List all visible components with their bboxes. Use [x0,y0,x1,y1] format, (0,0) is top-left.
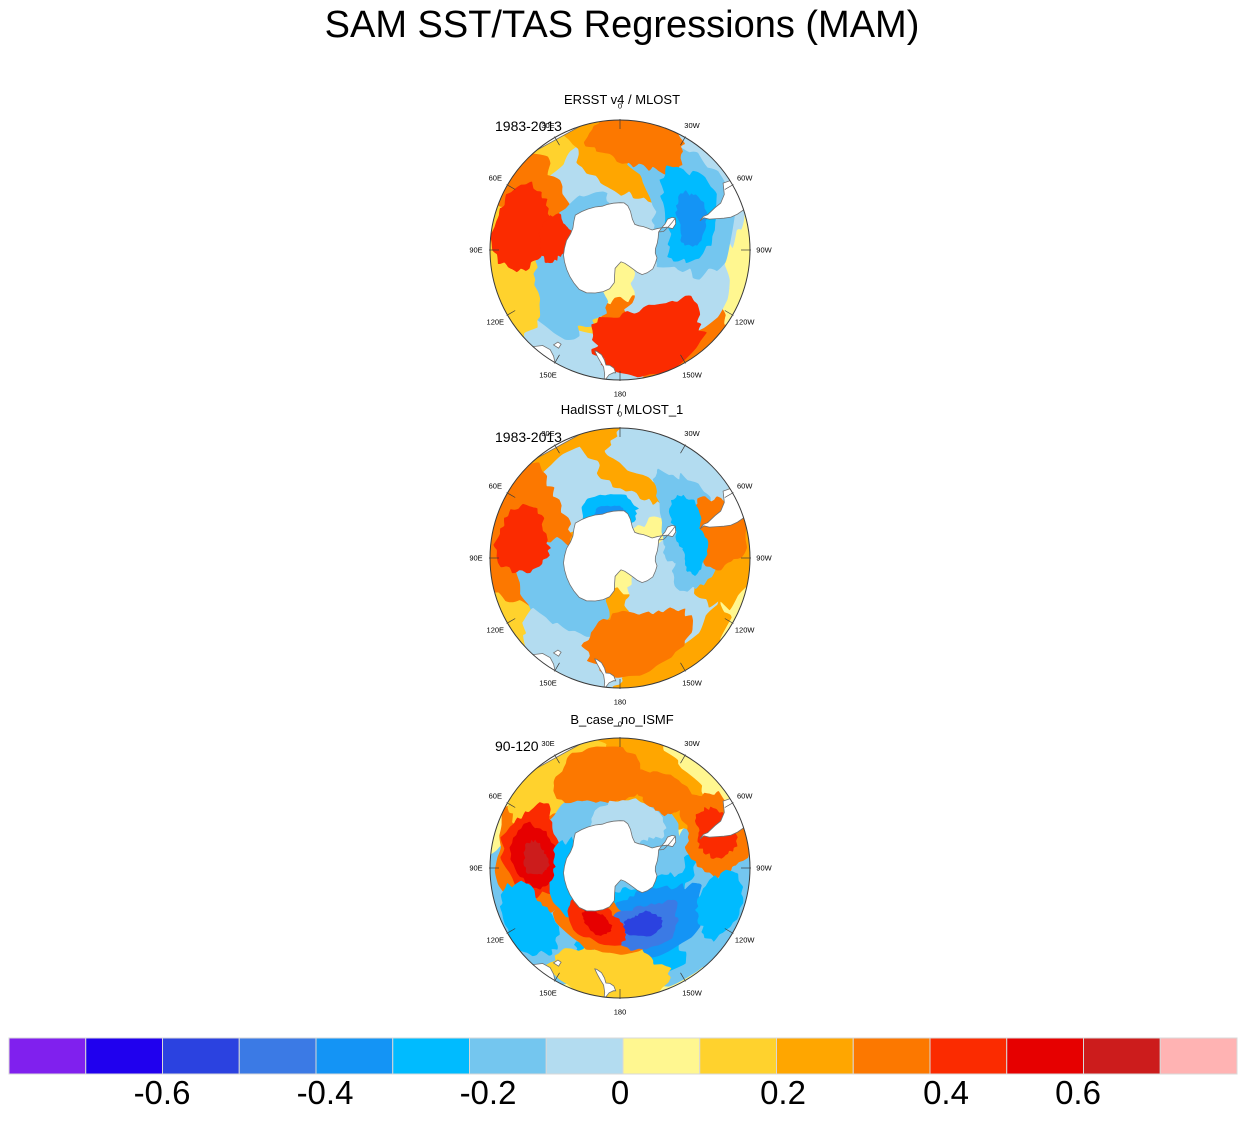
coastline-madagascar [486,432,515,450]
colorbar-cell-11[interactable] [853,1038,930,1074]
colorbar-cell-2[interactable] [163,1038,240,1074]
colorbar-cell-5[interactable] [393,1038,470,1074]
longitude-label: 60W [737,482,753,491]
longitude-label: 30W [684,739,700,748]
colorbar-cell-12[interactable] [930,1038,1007,1074]
longitude-label: 120E [487,626,505,635]
longitude-label: 30E [541,739,554,748]
colorbar-cell-1[interactable] [86,1038,163,1074]
longitude-label: 120W [735,936,756,945]
longitude-label: 150E [539,988,557,997]
longitude-label: 0 [618,410,622,419]
colorbar-tick-label: -0.4 [297,1074,354,1112]
longitude-label: 180 [614,1008,627,1017]
colorbar-tick-label: 0.6 [1055,1074,1101,1112]
colorbar-cell-0[interactable] [9,1038,86,1074]
longitude-label: 0 [618,102,622,111]
colorbar-cell-8[interactable] [623,1038,700,1074]
colorbar-cell-4[interactable] [316,1038,393,1074]
coastline-madagascar [486,124,515,142]
longitude-label: 0 [618,720,622,729]
colorbar-cell-13[interactable] [1007,1038,1084,1074]
longitude-label: 90E [469,864,482,873]
colorbar-cell-7[interactable] [546,1038,623,1074]
longitude-label: 30W [684,121,700,130]
colorbar-cell-15[interactable] [1160,1038,1237,1074]
longitude-label: 90E [469,554,482,563]
longitude-label: 60E [489,792,502,801]
longitude-label: 30E [541,429,554,438]
longitude-label: 150W [682,678,703,687]
longitude-label: 90E [469,246,482,255]
longitude-label: 120W [735,318,756,327]
colorbar-tick-label: 0.4 [923,1074,969,1112]
longitude-label: 120E [487,936,505,945]
map-data-layer-3 [473,731,756,1015]
longitude-label: 120W [735,626,756,635]
colorbar[interactable] [8,1037,1238,1075]
longitude-label: 60W [737,792,753,801]
longitude-label: 90W [756,864,772,873]
coastline-madagascar [486,742,515,760]
map-data-layer-2 [473,421,757,705]
longitude-label: 60W [737,174,753,183]
polar-map-3: 030E60E90E120E150E180150W120W90W60W30W [456,704,784,1032]
longitude-label: 30W [684,429,700,438]
longitude-label: 150W [682,988,703,997]
map-data-layer-1 [473,113,754,397]
colorbar-tick-label: -0.6 [134,1074,191,1112]
colorbar-cell-3[interactable] [239,1038,316,1074]
longitude-label: 60E [489,482,502,491]
colorbar-cell-6[interactable] [470,1038,547,1074]
colorbar-tick-label: 0.2 [760,1074,806,1112]
longitude-label: 60E [489,174,502,183]
longitude-label: 150W [682,370,703,379]
polar-map-1: 030E60E90E120E150E180150W120W90W60W30W [456,86,784,414]
figure-title: SAM SST/TAS Regressions (MAM) [0,4,1244,47]
colorbar-cell-9[interactable] [700,1038,777,1074]
colorbar-tick-label: -0.2 [460,1074,517,1112]
figure-canvas: SAM SST/TAS Regressions (MAM) ERSST v4 /… [0,0,1244,1116]
colorbar-tick-labels: -0.6-0.4-0.200.20.40.6 [0,1074,1244,1130]
colorbar-tick-label: 0 [611,1074,629,1112]
longitude-label: 150E [539,678,557,687]
colorbar-cell-10[interactable] [777,1038,854,1074]
polar-map-2: 030E60E90E120E150E180150W120W90W60W30W [456,394,784,722]
longitude-label: 90W [756,246,772,255]
longitude-label: 120E [487,318,505,327]
longitude-label: 90W [756,554,772,563]
longitude-label: 150E [539,370,557,379]
colorbar-cell-14[interactable] [1084,1038,1161,1074]
longitude-label: 30E [541,121,554,130]
